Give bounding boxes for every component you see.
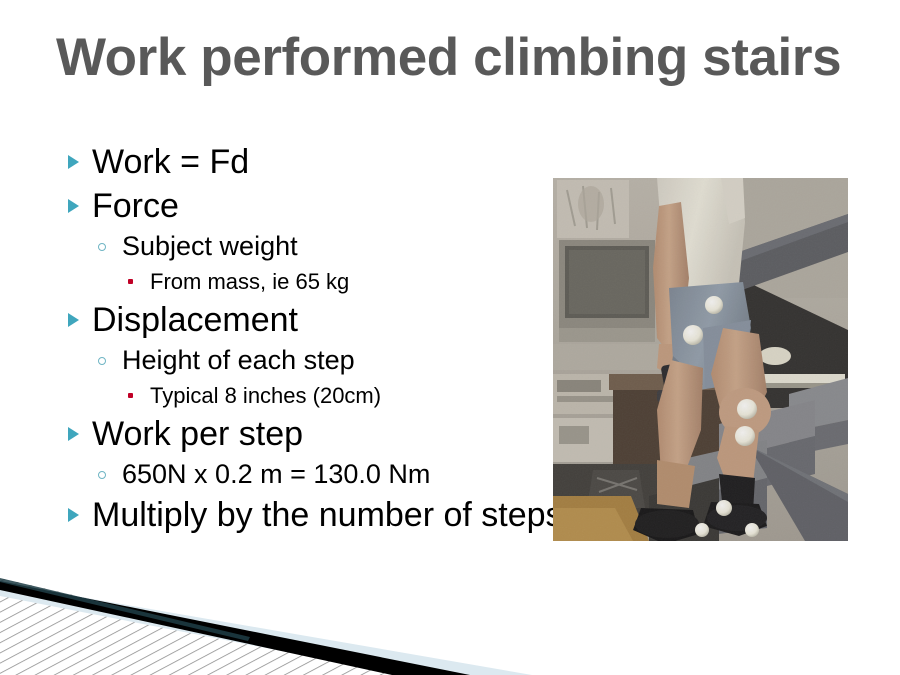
circle-bullet-icon: [98, 243, 106, 251]
dot-bullet-icon: [128, 279, 133, 284]
edge-line: [0, 578, 250, 641]
black-wedge: [0, 581, 470, 675]
bullet-label: Work per step: [92, 412, 303, 456]
circle-bullet-icon: [98, 471, 106, 479]
hatch-triangle: [0, 560, 480, 675]
stair-climbing-photo: [553, 178, 848, 541]
bullet-label: Multiply by the number of steps: [92, 493, 563, 537]
dot-bullet-icon: [128, 393, 133, 398]
bullet-label: Height of each step: [122, 342, 355, 379]
bullet-label: Force: [92, 184, 179, 228]
triangle-bullet-icon: [68, 199, 79, 213]
triangle-bullet-icon: [68, 427, 79, 441]
triangle-bullet-icon: [68, 313, 79, 327]
bullet-label: 650N x 0.2 m = 130.0 Nm: [122, 456, 430, 493]
bullet-label: Subject weight: [122, 228, 298, 265]
bullet-label: Work = Fd: [92, 140, 249, 184]
circle-bullet-icon: [98, 357, 106, 365]
bullet-label: Displacement: [92, 298, 298, 342]
corner-decoration: [0, 520, 560, 675]
bullet-label: Typical 8 inches (20cm): [150, 379, 381, 412]
slide-canvas: Work performed climbing stairs Work = Fd…: [0, 0, 900, 675]
page-title: Work performed climbing stairs: [56, 22, 856, 94]
bullet-label: From mass, ie 65 kg: [150, 265, 349, 298]
triangle-bullet-icon: [68, 508, 79, 522]
triangle-bullet-icon: [68, 155, 79, 169]
pale-blue-wedge: [0, 583, 532, 675]
